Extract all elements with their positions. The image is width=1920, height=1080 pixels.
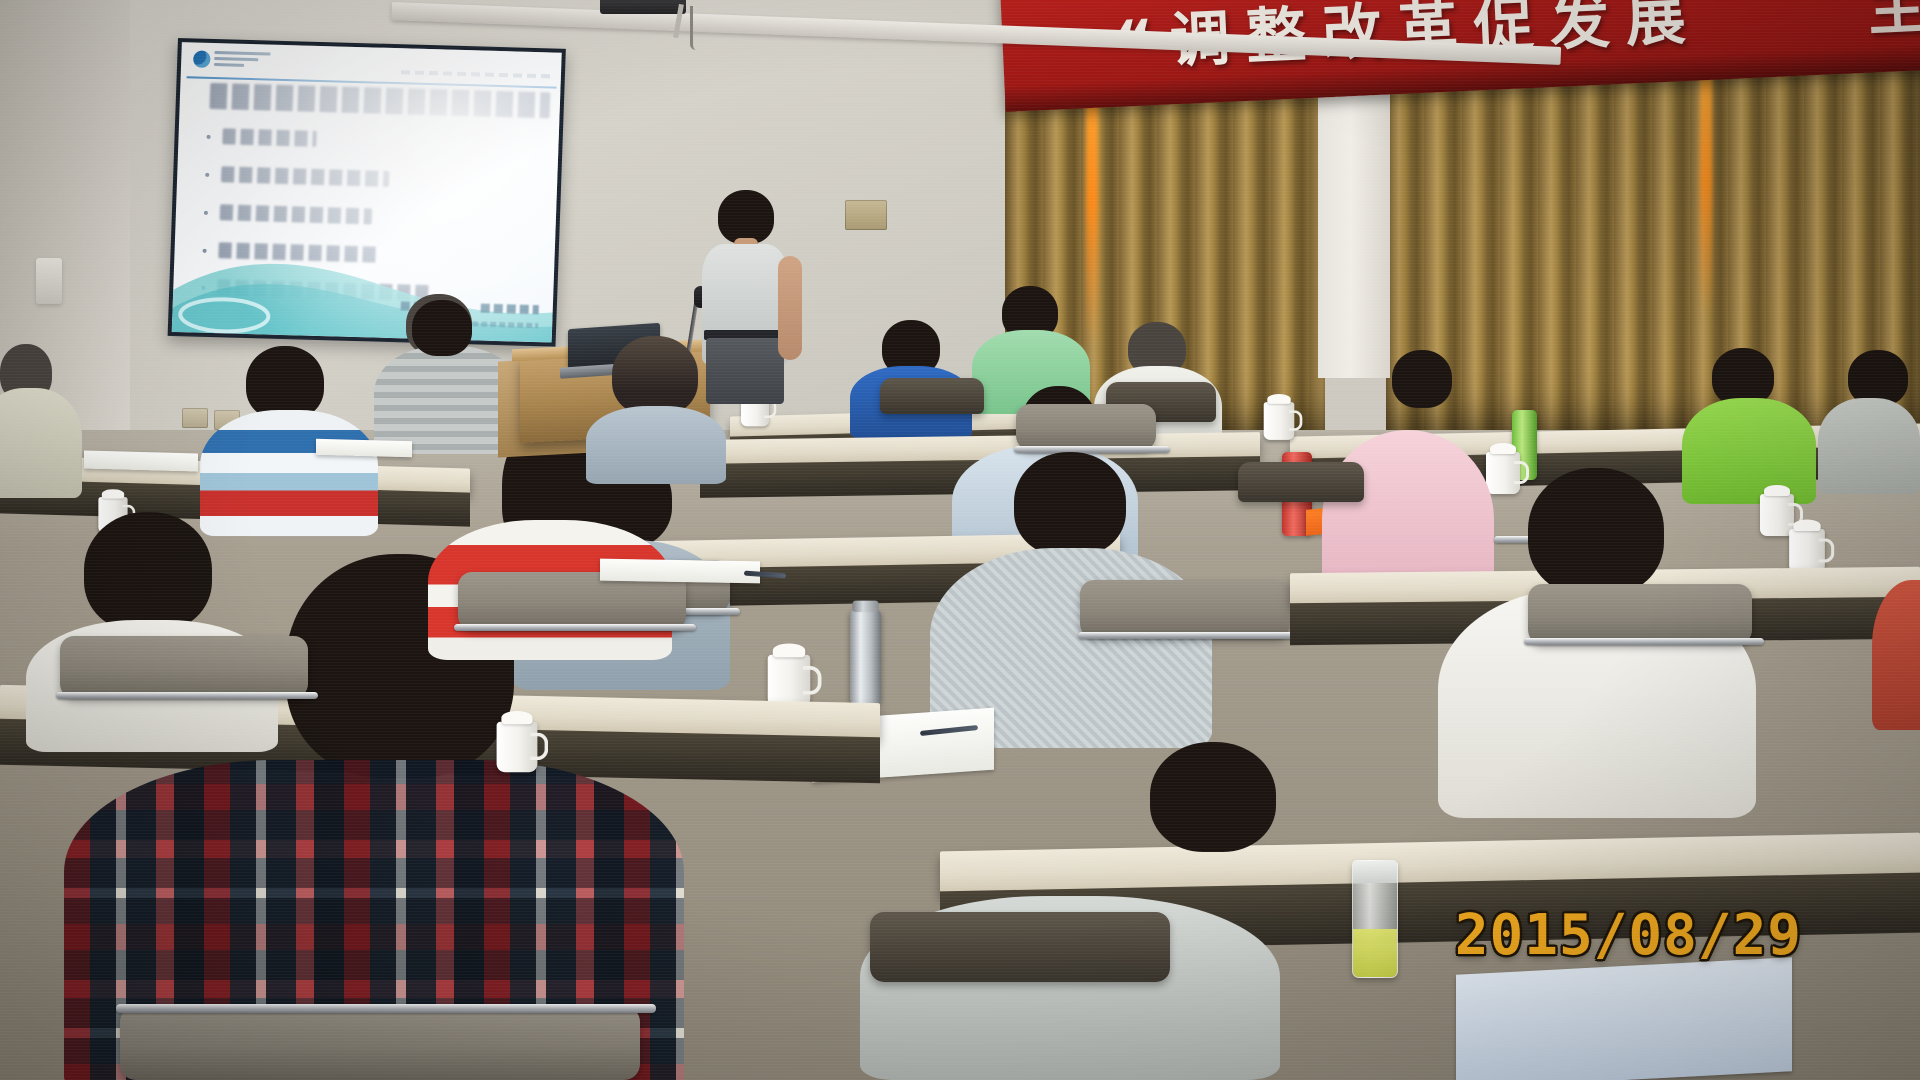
attendee-foreground-head	[1150, 742, 1276, 852]
projection-screen	[168, 38, 566, 347]
classroom-photo: “调整改革促发展 主	[0, 0, 1920, 1080]
attendee-striped-polo	[200, 410, 378, 536]
chair-foreground-right	[870, 912, 1170, 982]
presenter-head	[718, 190, 774, 244]
tumbler-tea	[1353, 929, 1397, 977]
attendee-seated-near-podium	[586, 406, 726, 484]
chair-arm	[454, 624, 696, 631]
banner-text-tail: 主	[1866, 0, 1920, 47]
chair-foreground	[120, 1006, 640, 1080]
chair-arm	[116, 1004, 656, 1013]
teacup-lidded	[768, 655, 811, 708]
wall-outlet	[182, 408, 208, 428]
tumbler-lid	[1353, 861, 1397, 883]
chair-row-0	[880, 378, 984, 414]
chair-row-3-right	[1528, 584, 1752, 644]
chair-arm	[1014, 446, 1170, 453]
camera-date-stamp: 2015/08/29	[1455, 903, 1802, 968]
slide-surface	[172, 42, 562, 342]
teacup-lidded	[1264, 402, 1295, 440]
attendee-green-polo	[1682, 398, 1816, 504]
chair-arm	[56, 692, 318, 699]
presenter-trousers	[706, 338, 784, 404]
screen-glare	[172, 42, 562, 342]
wall-lamp	[36, 258, 62, 304]
document-blue	[1456, 957, 1792, 1080]
attendee-seated-near-podium-head	[612, 336, 698, 416]
notebook	[600, 559, 760, 584]
chair-row-2	[1238, 462, 1364, 502]
attendee-striped-polo-head	[246, 346, 324, 420]
chair-row-4	[60, 636, 308, 698]
chair-row-2	[1016, 404, 1156, 450]
glass-tumbler	[1352, 860, 1398, 978]
attendee-white-tee-head	[1528, 468, 1664, 596]
teacup-lidded	[1789, 529, 1825, 573]
attendee-pink-top-head	[1392, 350, 1452, 408]
projector-cable	[690, 6, 696, 50]
attendee-grey-tee	[1818, 398, 1920, 494]
attendee-grey-polo-head	[1014, 452, 1126, 556]
teacup-lidded	[497, 722, 538, 772]
attendee-white-shirt-2-head	[84, 512, 212, 632]
teacup-lidded	[1486, 452, 1520, 494]
attendee-cream-top	[0, 388, 82, 498]
chair-row-3	[1080, 580, 1290, 638]
presenter-arm	[778, 256, 802, 360]
thermos-steel	[850, 610, 881, 704]
wall-control-plate	[845, 200, 887, 230]
ceiling-projector	[600, 0, 686, 14]
chair-arm	[1078, 632, 1302, 639]
attendee-back-row-head	[412, 300, 472, 356]
notebook	[84, 451, 198, 472]
chair-arm	[1524, 638, 1764, 645]
notebook	[316, 439, 412, 458]
